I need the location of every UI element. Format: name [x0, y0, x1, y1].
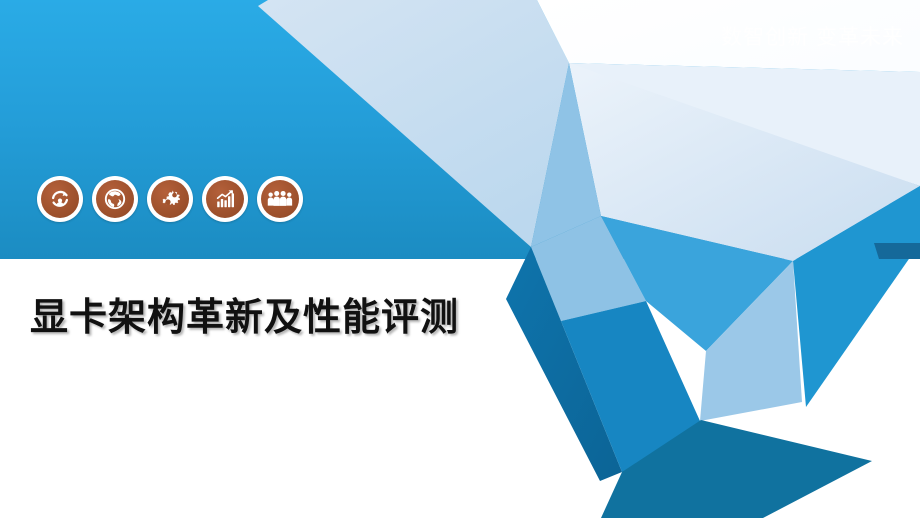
- facet-bottom-tail: [601, 420, 872, 518]
- slide-canvas: 数智创新 变革未来: [0, 0, 920, 518]
- gears-icon: [151, 180, 189, 218]
- icon-badge-refresh[interactable]: [37, 176, 83, 222]
- facet-dark-left: [506, 247, 622, 481]
- icon-row: [37, 176, 303, 222]
- facet-left-medium: [561, 301, 700, 472]
- header-tagline: 数智创新 变革未来: [721, 27, 904, 48]
- facet-center-light: [700, 261, 802, 421]
- icon-badge-globe[interactable]: [92, 176, 138, 222]
- team-group-icon: [261, 180, 299, 218]
- page-title: 显卡架构革新及性能评测: [30, 297, 459, 341]
- icon-badge-team[interactable]: [257, 176, 303, 222]
- bar-chart-growth-icon: [206, 180, 244, 218]
- globe-icon: [96, 180, 134, 218]
- icon-badge-gears[interactable]: [147, 176, 193, 222]
- refresh-arrow-icon: [41, 180, 79, 218]
- icon-badge-bar-chart[interactable]: [202, 176, 248, 222]
